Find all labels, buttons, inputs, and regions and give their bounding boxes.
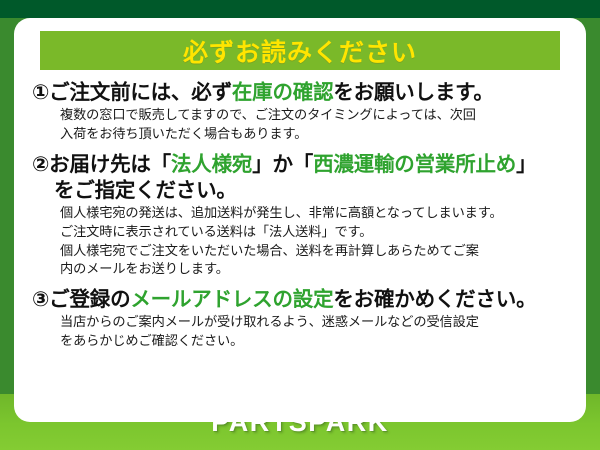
notice-body-line: ご注文時に表示されている送料は「法人送料」です。 — [60, 224, 570, 243]
notice-item-heading: ③ご登録のメールアドレスの設定をお確かめください。 — [32, 286, 570, 312]
notice-title: 必ずお読みください — [183, 33, 417, 69]
notice-item-heading-line2: をご指定ください。 — [32, 177, 570, 203]
notice-body-line: をあらかじめご確認ください。 — [60, 333, 570, 352]
notice-item: ③ご登録のメールアドレスの設定をお確かめください。当店からのご案内メールが受け取… — [32, 286, 570, 352]
notice-item: ②お届け先は「法人様宛」か「西濃運輸の営業所止め」をご指定ください。個人様宅宛の… — [32, 151, 570, 280]
notice-body-line: 個人様宅宛でご注文をいただいた場合、送料を再計算しあらためてご案 — [60, 243, 570, 262]
notice-item: ①ご注文前には、必ず在庫の確認をお願いします。複数の窓口で販売してますので、ご注… — [32, 79, 570, 145]
title-banner: 必ずお読みください — [40, 31, 560, 70]
heading-text: お届け先は「 — [49, 152, 171, 176]
heading-text: ご注文前には、必ず — [49, 80, 232, 104]
notice-body-line: 個人様宅宛の発送は、追加送料が発生し、非常に高額となってしまいます。 — [60, 205, 570, 224]
heading-text: をお確かめください。 — [333, 287, 536, 311]
notice-body-line: 入荷をお待ち頂いただく場合もあります。 — [60, 126, 570, 145]
heading-text: ご登録の — [49, 287, 130, 311]
heading-text: 」か「 — [252, 152, 313, 176]
notice-item-heading: ①ご注文前には、必ず在庫の確認をお願いします。 — [32, 79, 570, 105]
notice-card: PARTSPARK 必ずお読みください ①ご注文前には、必ず在庫の確認をお願いし… — [0, 0, 600, 450]
notice-item-body: 複数の窓口で販売してますので、ご注文のタイミングによっては、次回入荷をお待ち頂い… — [32, 107, 570, 144]
heading-highlight: 在庫の確認 — [232, 80, 334, 104]
heading-highlight: 西濃運輸の営業所止め — [313, 152, 516, 176]
notice-item-marker: ② — [32, 152, 49, 176]
notice-panel: 必ずお読みください ①ご注文前には、必ず在庫の確認をお願いします。複数の窓口で販… — [14, 18, 586, 422]
heading-highlight: 法人様宛 — [171, 152, 252, 176]
notice-item-body: 当店からのご案内メールが受け取れるよう、迷惑メールなどの受信設定をあらかじめご確… — [32, 314, 570, 351]
notice-item-marker: ① — [32, 80, 49, 104]
heading-text: 」 — [516, 152, 536, 176]
notice-body-line: 当店からのご案内メールが受け取れるよう、迷惑メールなどの受信設定 — [60, 314, 570, 333]
heading-highlight: メールアドレスの設定 — [130, 287, 333, 311]
notice-item-heading: ②お届け先は「法人様宛」か「西濃運輸の営業所止め」 — [32, 151, 570, 177]
heading-text: をお願いします。 — [333, 80, 493, 104]
notice-body-line: 複数の窓口で販売してますので、ご注文のタイミングによっては、次回 — [60, 107, 570, 126]
notice-item-body: 個人様宅宛の発送は、追加送料が発生し、非常に高額となってしまいます。ご注文時に表… — [32, 205, 570, 280]
notice-body-line: 内のメールをお送りします。 — [60, 261, 570, 280]
notice-item-marker: ③ — [32, 287, 49, 311]
notice-item-list: ①ご注文前には、必ず在庫の確認をお願いします。複数の窓口で販売してますので、ご注… — [26, 79, 574, 352]
